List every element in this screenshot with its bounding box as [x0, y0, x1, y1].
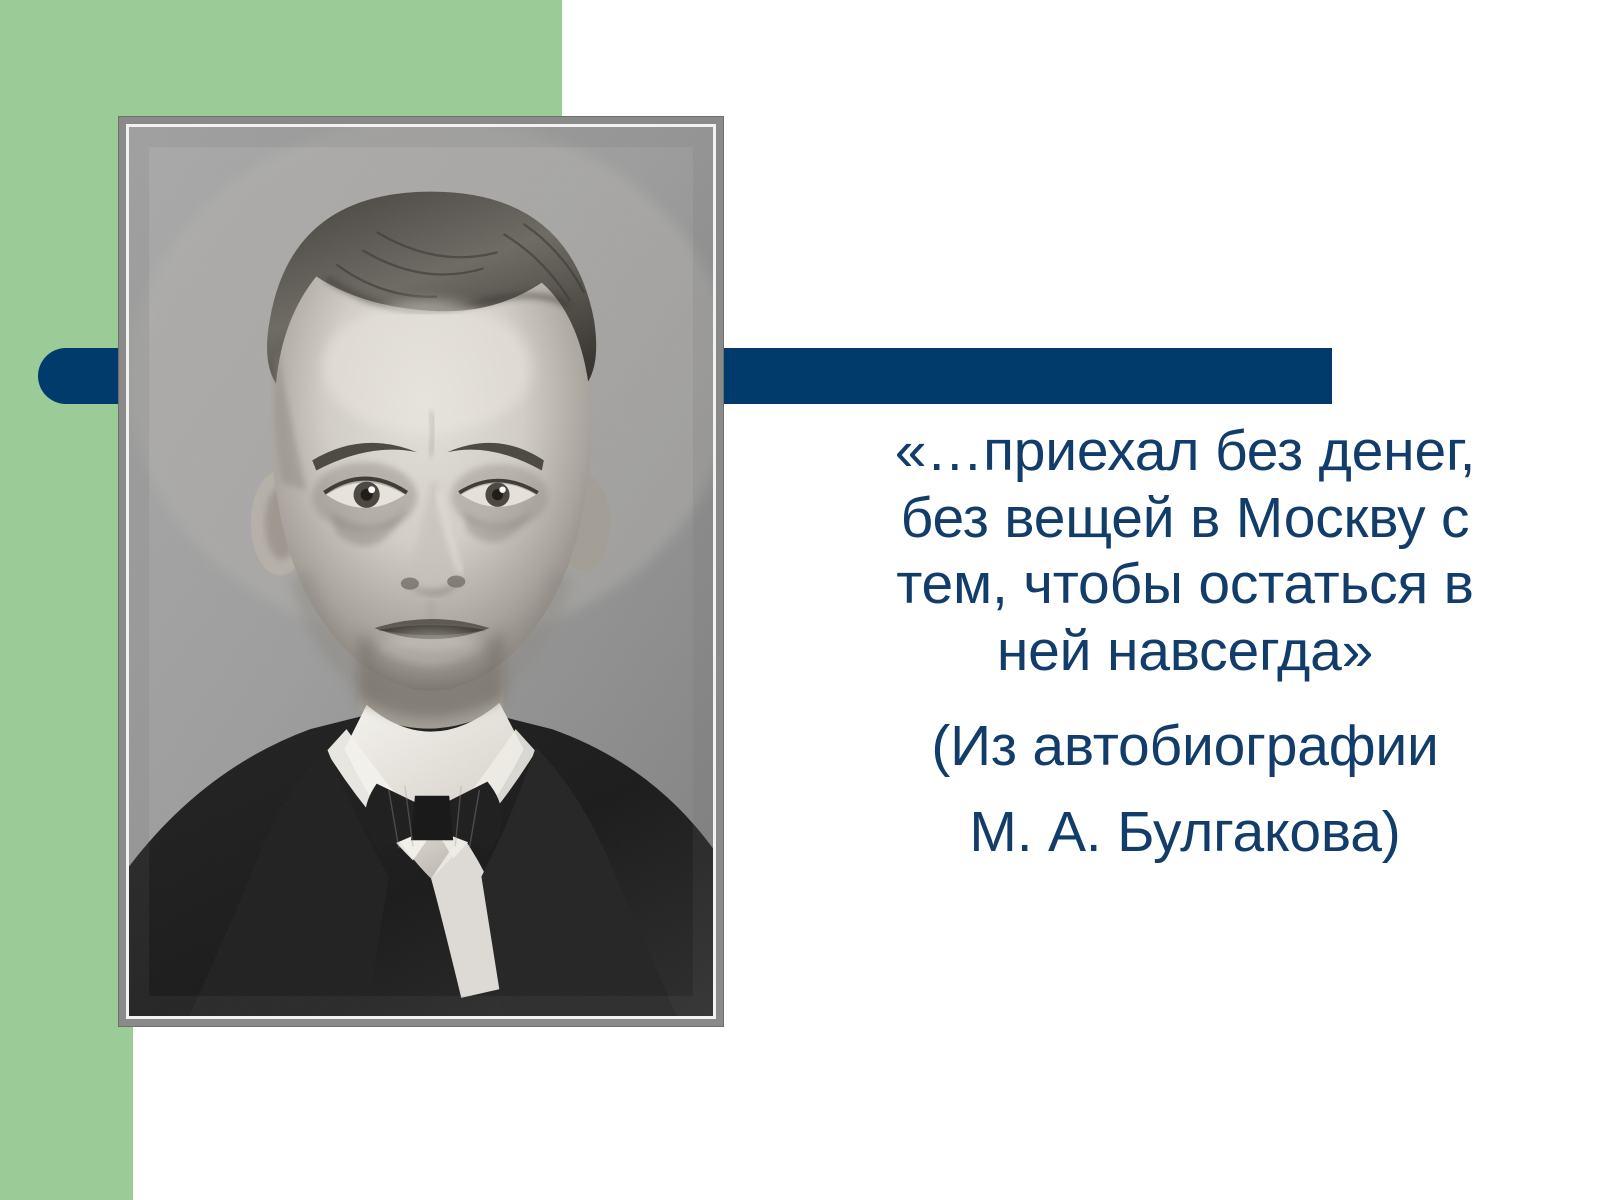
portrait-photo-frame [119, 117, 723, 1026]
quote-attribution: (Из автобиографии М. А. Булгакова) [878, 703, 1492, 876]
green-accent-strip [0, 0, 133, 1200]
portrait-photo [126, 124, 716, 1019]
slide-canvas: «…приехал без денег, без вещей в Москву … [0, 0, 1600, 1200]
quote-text-block: «…приехал без денег, без вещей в Москву … [878, 418, 1492, 876]
portrait-illustration [129, 127, 713, 1016]
quote-text: «…приехал без денег, без вещей в Москву … [878, 418, 1492, 685]
